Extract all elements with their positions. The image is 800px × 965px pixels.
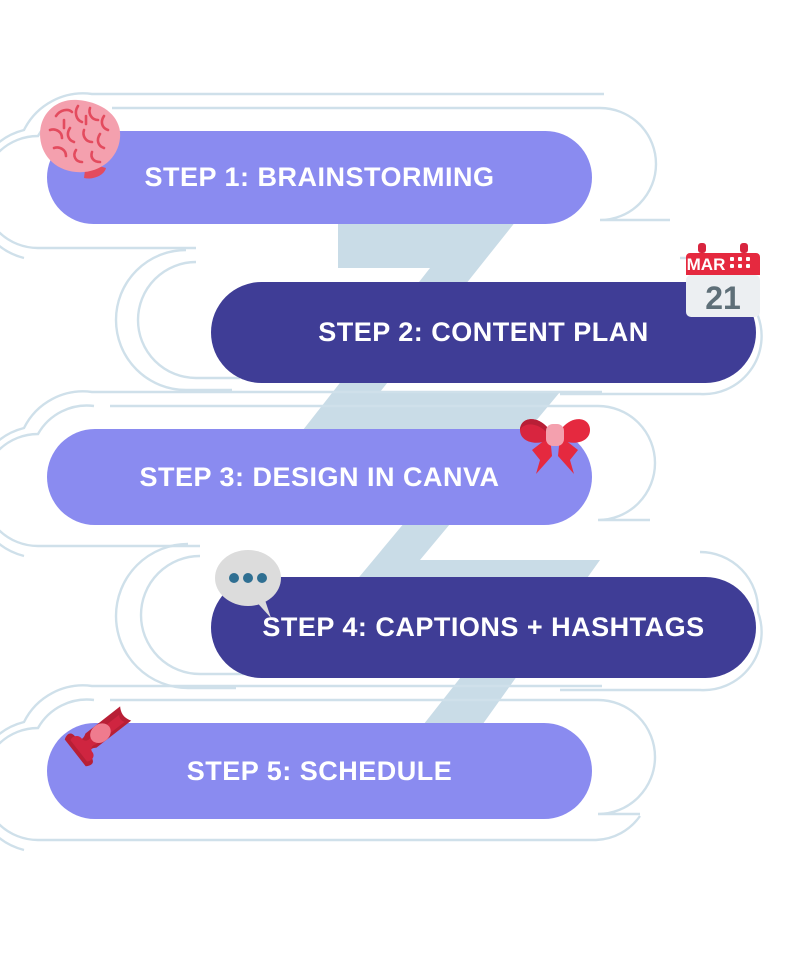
step-icons: MAR 21 xyxy=(0,0,800,960)
calendar-icon: MAR 21 xyxy=(686,243,760,321)
calendar-month-text: MAR xyxy=(687,255,726,274)
bow-icon xyxy=(514,402,594,482)
brain-icon xyxy=(34,94,130,186)
infographic-canvas: STEP 1: BRAINSTORMING STEP 2: CONTENT PL… xyxy=(0,0,800,960)
ticket-icon xyxy=(57,688,143,774)
speech-bubble-icon xyxy=(213,546,287,622)
calendar-day-text: 21 xyxy=(705,280,741,316)
